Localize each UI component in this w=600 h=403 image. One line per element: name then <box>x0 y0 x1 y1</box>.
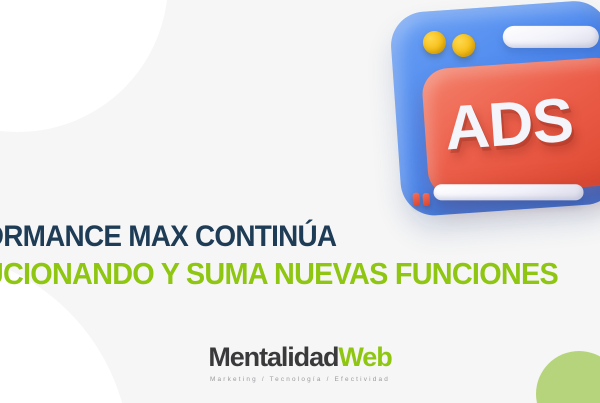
white-pill-bar-bottom <box>434 184 584 200</box>
red-tick-marker <box>422 193 430 206</box>
ads-red-panel: ADS <box>421 56 600 198</box>
headline: FORMANCE MAX CONTINÚA LUCIONANDO Y SUMA … <box>0 222 600 289</box>
decor-white-circle-top-left <box>0 0 168 132</box>
logo-tagline: Marketing / Tecnología / Efectividad <box>0 376 600 383</box>
brand-logo: MentalidadWeb Marketing / Tecnología / E… <box>0 344 600 383</box>
banner-canvas: ADS FORMANCE MAX CONTINÚA LUCIONANDO Y S… <box>0 0 600 403</box>
headline-line-1: FORMANCE MAX CONTINÚA <box>0 222 558 252</box>
logo-word-green: Web <box>338 342 391 372</box>
logo-wordmark: MentalidadWeb <box>0 344 600 371</box>
ads-label: ADS <box>443 90 575 161</box>
headline-line-2: LUCIONANDO Y SUMA NUEVAS FUNCIONES <box>0 258 558 289</box>
red-tick-marker <box>412 192 420 205</box>
white-pill-bar-top <box>503 26 599 48</box>
logo-word-dark: Mentalidad <box>208 342 338 372</box>
ads-illustration: ADS <box>376 0 600 246</box>
